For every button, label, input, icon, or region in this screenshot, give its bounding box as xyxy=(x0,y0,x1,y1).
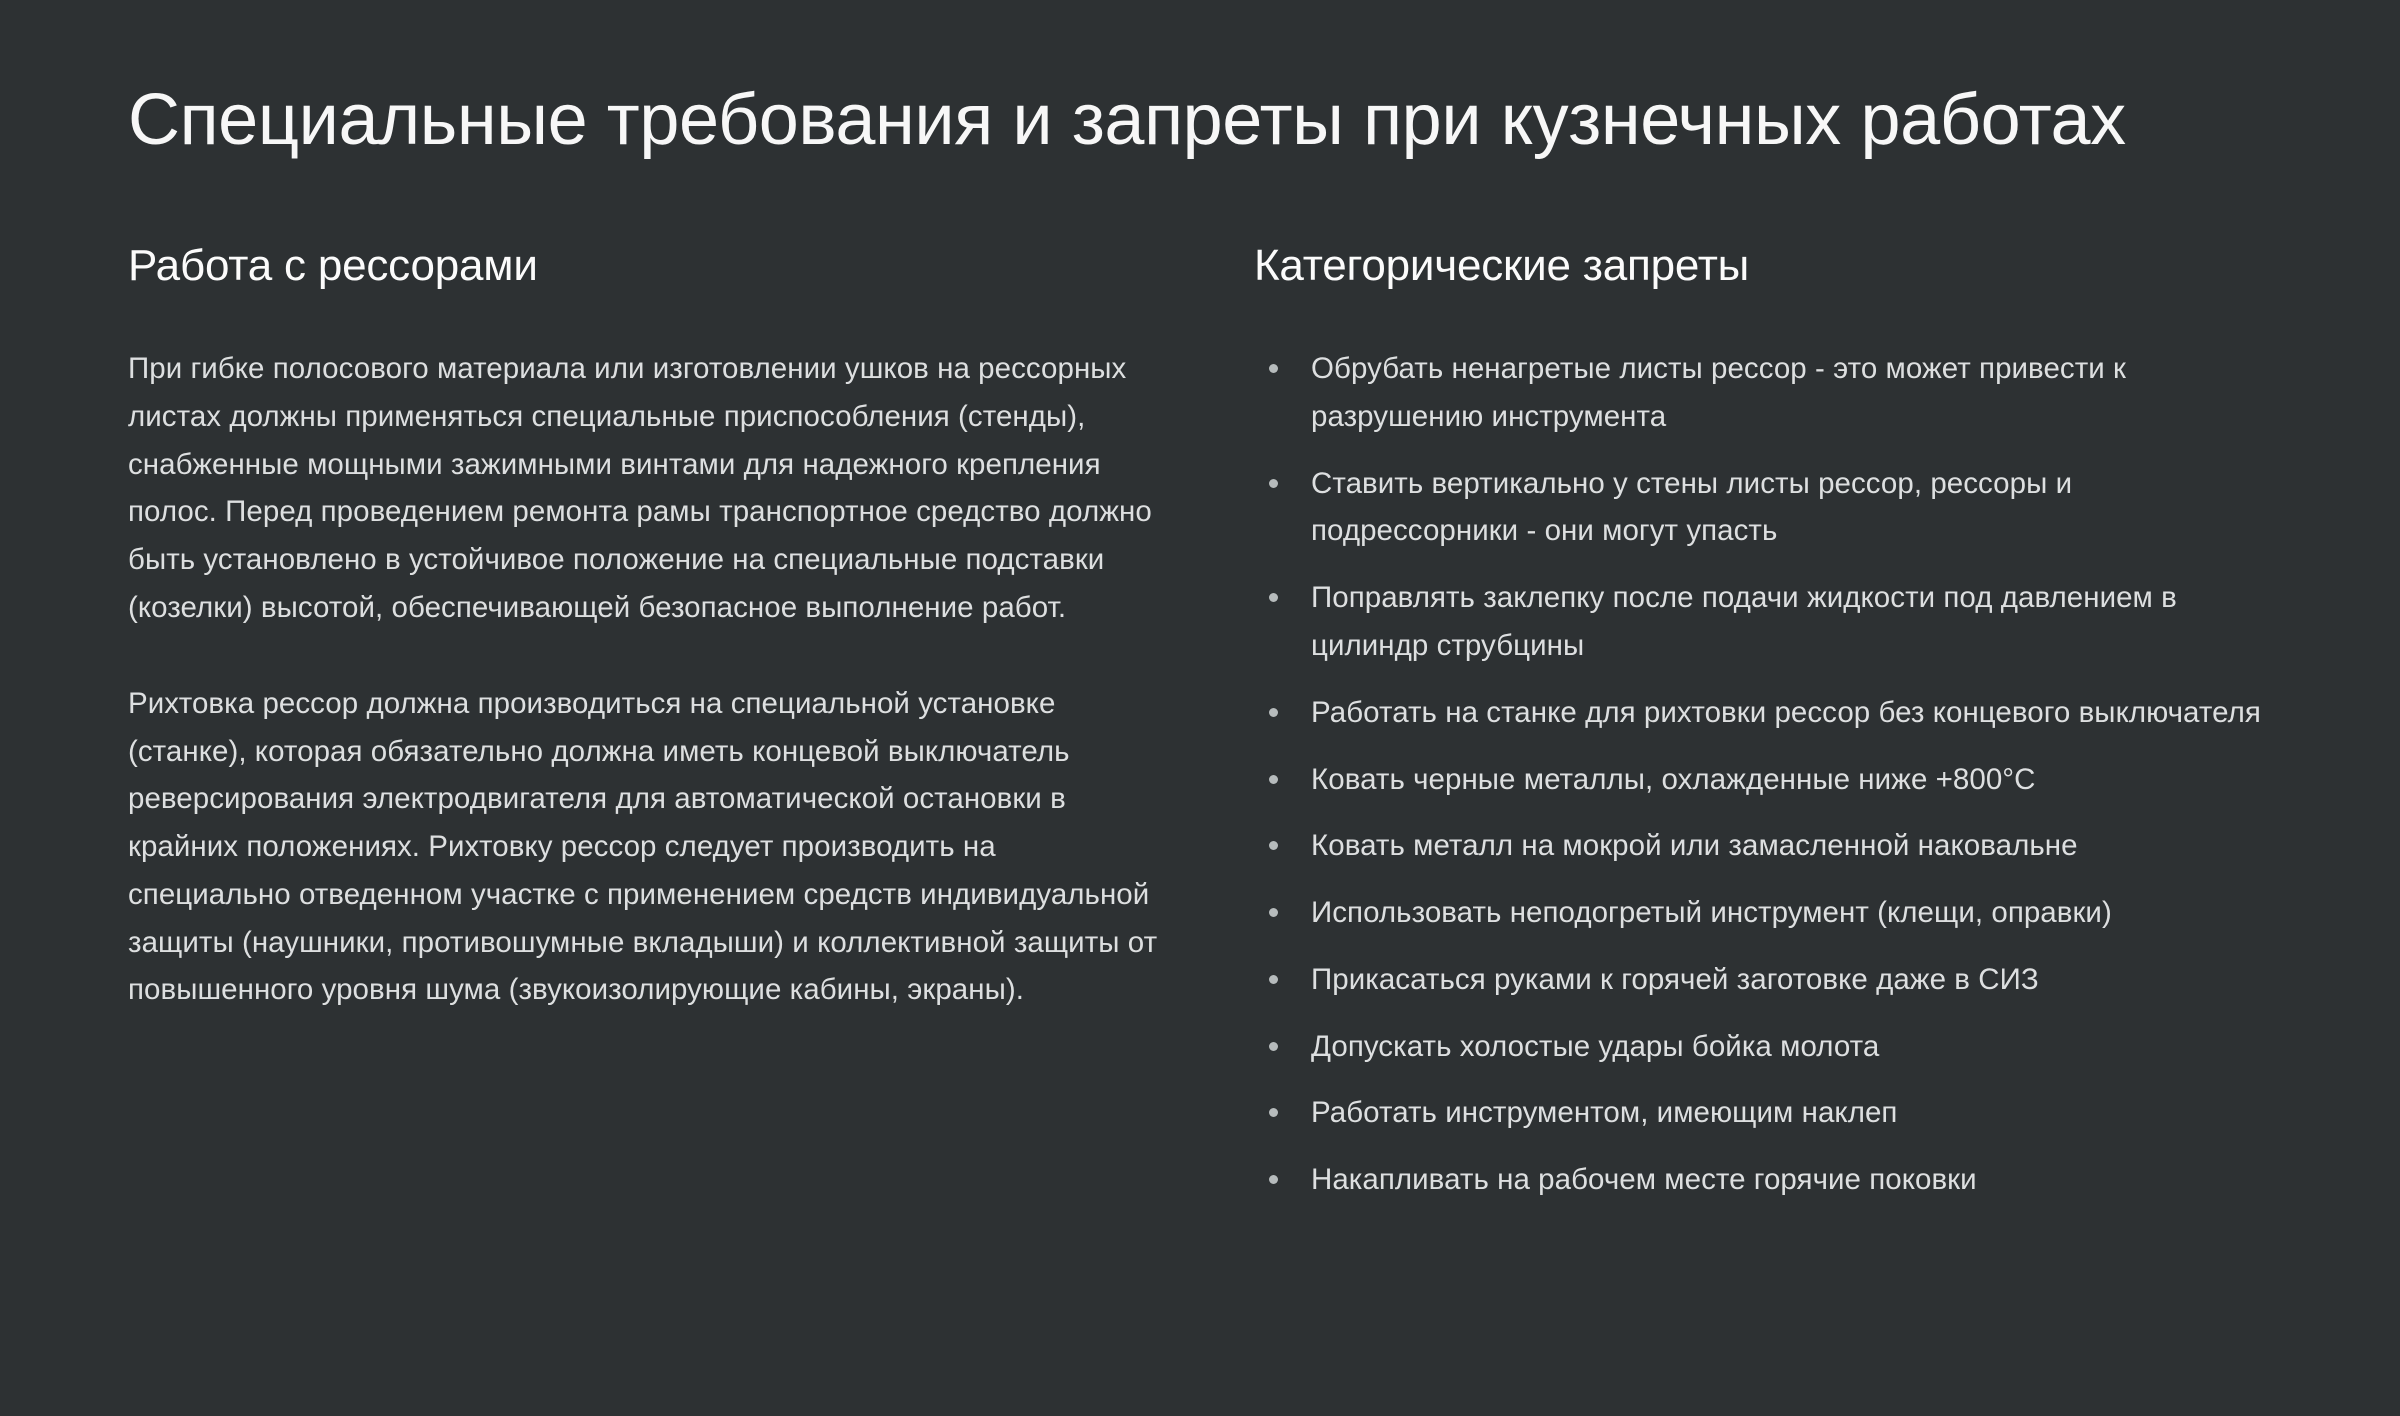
list-item-label: Прикасаться руками к горячей заготовке д… xyxy=(1311,963,2039,996)
list-item-label: Работать инструментом, имеющим наклеп xyxy=(1311,1096,1897,1129)
list-item-label: Обрубать ненагретые листы рессор - это м… xyxy=(1311,352,2126,433)
column-springs-work: Работа с рессорами При гибке полосового … xyxy=(128,240,1158,1014)
list-item: Накапливать на рабочем месте горячие пок… xyxy=(1254,1156,2284,1204)
list-item: Прикасаться руками к горячей заготовке д… xyxy=(1254,956,2284,1004)
bullet-dot-icon xyxy=(1269,708,1278,717)
paragraph: Рихтовка рессор должна производиться на … xyxy=(128,680,1158,1014)
bullet-dot-icon xyxy=(1269,1108,1278,1117)
list-item: Допускать холостые удары бойка молота xyxy=(1254,1023,2284,1071)
column-heading-springs-work: Работа с рессорами xyxy=(128,240,1158,293)
list-item: Поправлять заклепку после подачи жидкост… xyxy=(1254,574,2284,670)
two-column-layout: Работа с рессорами При гибке полосового … xyxy=(128,240,2272,1204)
bullet-dot-icon xyxy=(1269,1175,1278,1184)
list-item: Работать инструментом, имеющим наклеп xyxy=(1254,1089,2284,1137)
list-item-label: Ставить вертикально у стены листы рессор… xyxy=(1311,467,2072,548)
list-item-label: Ковать металл на мокрой или замасленной … xyxy=(1311,829,2078,862)
list-item: Использовать неподогретый инструмент (кл… xyxy=(1254,889,2284,937)
paragraph: При гибке полосового материала или изгот… xyxy=(128,345,1158,632)
page-title: Специальные требования и запреты при куз… xyxy=(128,78,2208,162)
list-item-label: Использовать неподогретый инструмент (кл… xyxy=(1311,896,2112,929)
bullet-dot-icon xyxy=(1269,908,1278,917)
list-item-label: Ковать черные металлы, охлажденные ниже … xyxy=(1311,763,2036,796)
list-item: Ковать металл на мокрой или замасленной … xyxy=(1254,822,2284,870)
slide-root: Специальные требования и запреты при куз… xyxy=(0,0,2400,1416)
bullet-dot-icon xyxy=(1269,975,1278,984)
list-item-label: Работать на станке для рихтовки рессор б… xyxy=(1311,696,2261,729)
prohibitions-list: Обрубать ненагретые листы рессор - это м… xyxy=(1254,345,2284,1204)
bullet-dot-icon xyxy=(1269,479,1278,488)
bullet-dot-icon xyxy=(1269,775,1278,784)
bullet-dot-icon xyxy=(1269,364,1278,373)
bullet-dot-icon xyxy=(1269,1042,1278,1051)
list-item: Ставить вертикально у стены листы рессор… xyxy=(1254,460,2284,556)
bullet-dot-icon xyxy=(1269,593,1278,602)
list-item: Работать на станке для рихтовки рессор б… xyxy=(1254,689,2284,737)
list-item-label: Допускать холостые удары бойка молота xyxy=(1311,1030,1879,1063)
list-item: Ковать черные металлы, охлажденные ниже … xyxy=(1254,756,2284,804)
list-item-label: Накапливать на рабочем месте горячие пок… xyxy=(1311,1163,1977,1196)
list-item: Обрубать ненагретые листы рессор - это м… xyxy=(1254,345,2284,441)
bullet-dot-icon xyxy=(1269,841,1278,850)
column-heading-prohibitions: Категорические запреты xyxy=(1254,240,2284,293)
list-item-label: Поправлять заклепку после подачи жидкост… xyxy=(1311,581,2177,662)
column-prohibitions: Категорические запреты Обрубать ненагрет… xyxy=(1254,240,2284,1204)
